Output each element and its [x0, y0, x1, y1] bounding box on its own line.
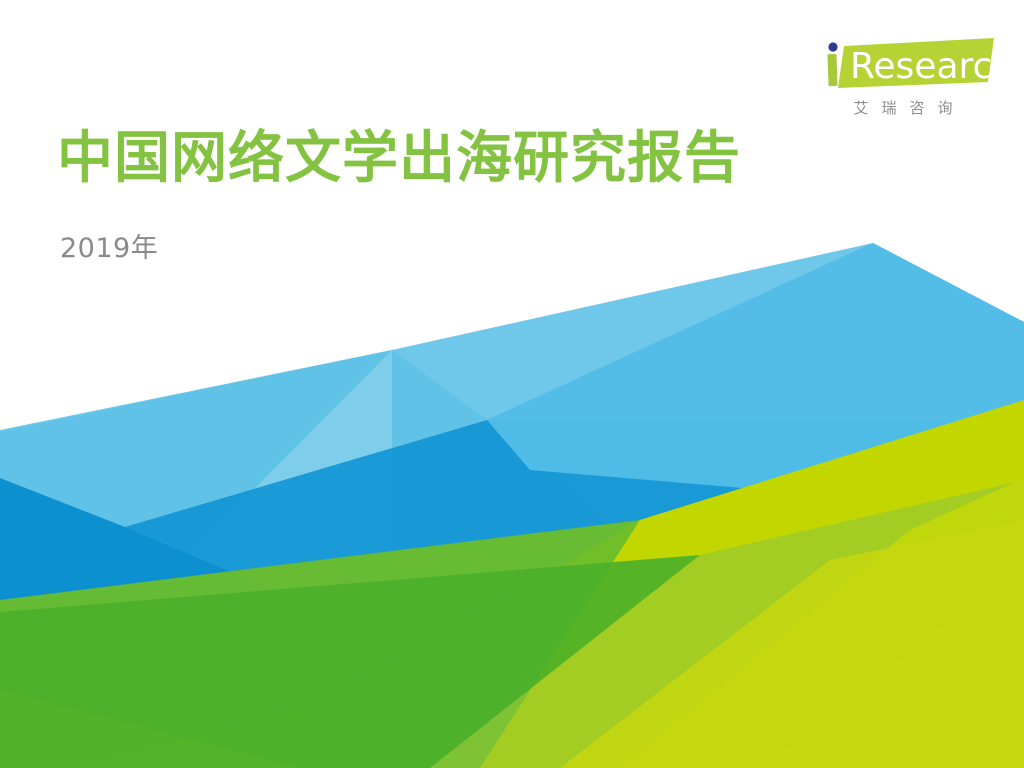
logo-i-stem — [827, 54, 837, 86]
iresearch-wordmark: Research — [810, 38, 996, 92]
logo-i-dot — [828, 42, 837, 51]
report-cover-slide: 中国网络文学出海研究报告 2019年 Research 艾瑞咨询 — [0, 0, 1024, 768]
iresearch-logo: Research 艾瑞咨询 — [810, 38, 996, 118]
logo-wordmark-text: Research — [850, 46, 996, 87]
report-year: 2019年 — [60, 226, 158, 265]
page-title: 中国网络文学出海研究报告 — [57, 128, 741, 191]
logo-chinese-name: 艾瑞咨询 — [810, 97, 996, 118]
